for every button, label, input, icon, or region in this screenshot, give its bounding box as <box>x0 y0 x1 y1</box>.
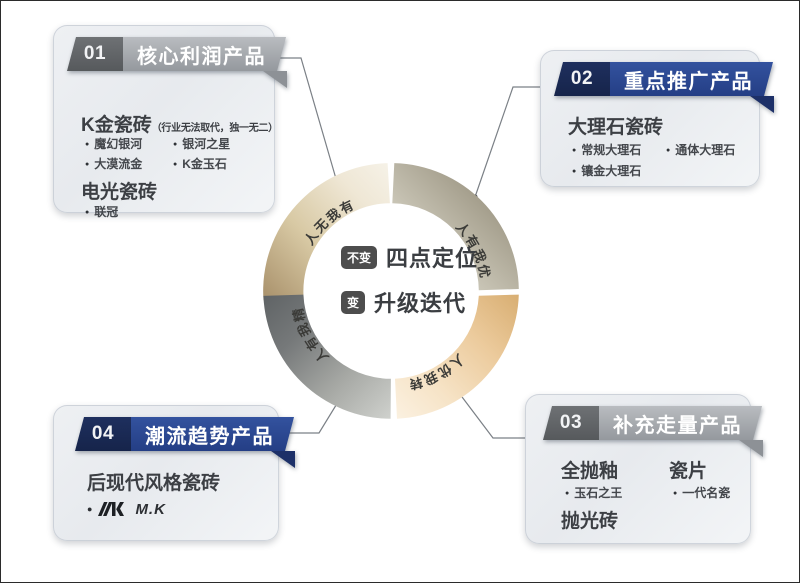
mk-logo-text: M.K <box>135 501 166 518</box>
diagram-canvas: 人无我有 人有我优 人优我转 人有我精 不变 四点定位 变 升级迭代 01 核心… <box>0 0 800 583</box>
card-03-number: 03 <box>543 406 599 440</box>
card-02-fold <box>750 96 774 113</box>
card-01-g2-b1: 联冠 <box>85 203 118 220</box>
card-02-title: 重点推广产品 <box>610 62 773 96</box>
card-03-g1-b1: 玉石之王 <box>565 484 622 501</box>
card-03-group-3-heading: 抛光砖 <box>561 506 618 533</box>
center-chip-1: 不变 <box>341 246 377 269</box>
center-line-1: 不变 四点定位 <box>341 241 478 273</box>
card-01-title: 核心利润产品 <box>123 37 286 71</box>
card-03-fold <box>739 440 763 457</box>
card-01-group-1-heading: K金瓷砖（行业无法取代，独一无二） <box>81 110 278 137</box>
card-04[interactable]: 04 潮流趋势产品 后现代风格瓷砖 ● M.K <box>53 405 279 541</box>
card-03-title: 补充走量产品 <box>599 406 762 440</box>
logo-bullet-icon: ● <box>87 504 92 514</box>
card-03-g2-b1: 一代名瓷 <box>673 484 730 501</box>
card-04-fold <box>271 451 295 468</box>
center-text-1: 四点定位 <box>386 241 478 273</box>
card-02-g1-b3: 镶金大理石 <box>572 162 641 179</box>
card-02[interactable]: 02 重点推广产品 大理石瓷砖 常规大理石 通体大理石 镶金大理石 <box>540 50 760 187</box>
card-01-g1-b4: K金玉石 <box>173 155 227 172</box>
card-04-group-1-heading: 后现代风格瓷砖 <box>87 468 220 495</box>
card-02-group-1-heading: 大理石瓷砖 <box>568 112 663 139</box>
card-01-g1-b1: 魔幻银河 <box>85 135 142 152</box>
center-chip-2: 变 <box>341 291 365 314</box>
card-04-logo: ● M.K <box>87 500 166 518</box>
card-01-group-1-note: （行业无法取代，独一无二） <box>152 123 278 134</box>
card-02-banner: 02 重点推广产品 <box>554 62 773 96</box>
card-04-number: 04 <box>75 417 131 451</box>
card-02-g1-b1: 常规大理石 <box>572 141 641 158</box>
center-line-2: 变 升级迭代 <box>341 286 466 318</box>
card-03-group-2-heading: 瓷片 <box>669 456 707 483</box>
card-02-number: 02 <box>554 62 610 96</box>
card-03-group-1-heading: 全抛釉 <box>561 456 618 483</box>
card-01[interactable]: 01 核心利润产品 K金瓷砖（行业无法取代，独一无二） 魔幻银河 银河之星 大漠… <box>53 25 275 213</box>
card-01-g1-b2: 银河之星 <box>173 135 230 152</box>
card-01-group-2-heading: 电光瓷砖 <box>81 177 157 204</box>
card-02-g1-b2: 通体大理石 <box>666 141 735 158</box>
ring-segment-1 <box>263 163 390 300</box>
card-01-g1-b3: 大漠流金 <box>85 155 142 172</box>
card-03-banner: 03 补充走量产品 <box>543 406 762 440</box>
card-01-number: 01 <box>67 37 123 71</box>
mk-mark-icon <box>98 500 132 518</box>
card-01-fold <box>263 71 287 88</box>
card-04-title: 潮流趋势产品 <box>131 417 294 451</box>
card-03[interactable]: 03 补充走量产品 全抛釉 玉石之王 瓷片 一代名瓷 抛光砖 <box>525 394 751 544</box>
center-text-2: 升级迭代 <box>374 286 466 318</box>
card-01-banner: 01 核心利润产品 <box>67 37 286 71</box>
card-04-banner: 04 潮流趋势产品 <box>75 417 294 451</box>
